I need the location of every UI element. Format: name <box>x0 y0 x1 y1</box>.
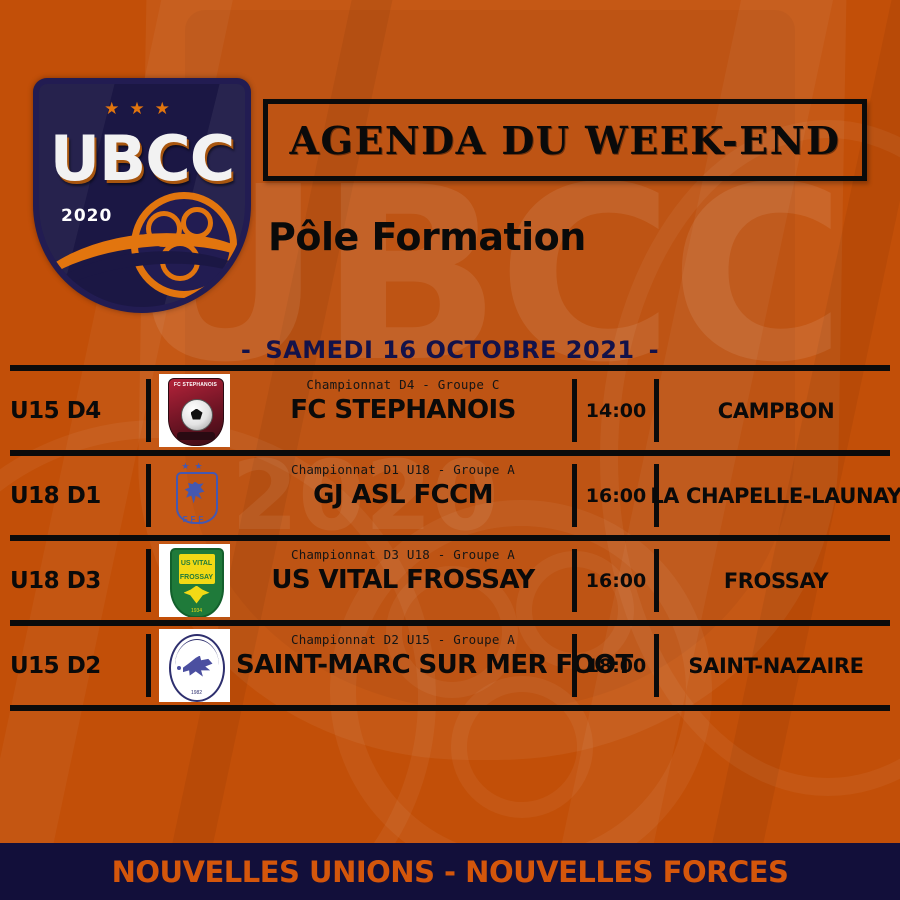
smm-year: 1982 <box>171 690 223 696</box>
row-divider-vertical <box>146 634 151 697</box>
saint-marc-sur-mer-logo: 1982 <box>159 629 230 702</box>
row-divider-vertical <box>654 379 659 442</box>
row-divider-vertical <box>654 634 659 697</box>
row-divider-vertical <box>572 634 577 697</box>
footer-bar: NOUVELLES UNIONS - NOUVELLES FORCES <box>0 843 900 900</box>
crest-name-text: UBCC <box>39 122 245 195</box>
row-place: LA CHAPELLE-LAUNAY <box>660 456 892 535</box>
row-category: U15 D4 <box>10 371 148 450</box>
ubcc-crest-logo: ★★★ UBCC 2020 <box>33 78 251 313</box>
logo-dot <box>177 666 181 670</box>
table-row[interactable]: U18 D3 US VITAL FROSSAY 1934 Championnat… <box>0 541 900 620</box>
row-divider-vertical <box>572 464 577 527</box>
bird-icon <box>184 586 210 604</box>
row-category: U18 D3 <box>10 541 148 620</box>
logo-band: US VITAL FROSSAY <box>179 554 215 584</box>
row-match-info: Championnat D2 U15 - Groupe A SAINT-MARC… <box>236 626 570 705</box>
fixtures-table: U15 D4 FC STEPHANOIS Championnat D4 - Gr… <box>0 365 900 711</box>
row-time: 16:00 <box>578 456 654 535</box>
row-competition: Championnat D3 U18 - Groupe A <box>236 547 570 562</box>
row-divider-vertical <box>146 379 151 442</box>
logo-caption: FC STEPHANOIS <box>169 382 223 388</box>
logo-ribbon <box>177 432 215 440</box>
footer-slogan: NOUVELLES UNIONS - NOUVELLES FORCES <box>112 855 789 889</box>
poster-canvas: UBCC 2020 ★★★ UBCC 2020 AGENDA DU WEEK-E… <box>0 0 900 900</box>
row-place: SAINT-NAZAIRE <box>660 626 892 705</box>
crest-year-text: 2020 <box>61 206 112 226</box>
table-divider <box>10 705 890 711</box>
row-divider-vertical <box>572 379 577 442</box>
row-divider-vertical <box>146 549 151 612</box>
row-competition: Championnat D1 U18 - Groupe A <box>236 462 570 477</box>
table-row[interactable]: U18 D1 ★★ FFF Championnat D1 U18 - Group… <box>0 456 900 535</box>
fc-stephanois-logo: FC STEPHANOIS <box>159 374 230 447</box>
row-category: U18 D1 <box>10 456 148 535</box>
date-heading: -SAMEDI 16 OCTOBRE 2021- <box>0 336 900 364</box>
row-place: FROSSAY <box>660 541 892 620</box>
table-row[interactable]: U15 D4 FC STEPHANOIS Championnat D4 - Gr… <box>0 371 900 450</box>
row-category: U15 D2 <box>10 626 148 705</box>
row-place: CAMPBON <box>660 371 892 450</box>
row-team: GJ ASL FCCM <box>236 480 570 510</box>
date-dash-left: - <box>241 336 251 364</box>
row-team: US VITAL FROSSAY <box>236 565 570 595</box>
page-title-box: AGENDA DU WEEK-END <box>263 99 867 181</box>
row-time: 14:00 <box>578 371 654 450</box>
row-competition: Championnat D4 - Groupe C <box>236 377 570 392</box>
row-competition: Championnat D2 U15 - Groupe A <box>236 632 570 647</box>
date-dash-right: - <box>649 336 659 364</box>
row-team: SAINT-MARC SUR MER FOOT <box>236 650 570 680</box>
fff-logo: ★★ FFF <box>159 459 230 532</box>
table-row[interactable]: U15 D2 1982 Championnat D2 U15 - Groupe … <box>0 626 900 705</box>
page-title: AGENDA DU WEEK-END <box>290 118 841 163</box>
row-divider-vertical <box>146 464 151 527</box>
row-match-info: Championnat D3 U18 - Groupe A US VITAL F… <box>236 541 570 620</box>
uvf-line2: FROSSAY <box>179 568 215 582</box>
page-subtitle: Pôle Formation <box>268 215 586 259</box>
row-team: FC STEPHANOIS <box>236 395 570 425</box>
row-divider-vertical <box>654 549 659 612</box>
row-match-info: Championnat D4 - Groupe C FC STEPHANOIS <box>236 371 570 450</box>
crest-shield-shape: ★★★ UBCC 2020 <box>33 78 251 313</box>
us-vital-frossay-logo: US VITAL FROSSAY 1934 <box>159 544 230 617</box>
row-match-info: Championnat D1 U18 - Groupe A GJ ASL FCC… <box>236 456 570 535</box>
soccer-ball-icon <box>181 399 213 431</box>
uvf-line1: US VITAL <box>179 554 215 568</box>
row-time: 16:00 <box>578 541 654 620</box>
row-divider-vertical <box>572 549 577 612</box>
crest-stars-icon: ★★★ <box>39 100 245 117</box>
fff-label: FFF <box>167 515 223 524</box>
row-time: 18:00 <box>578 626 654 705</box>
date-label: SAMEDI 16 OCTOBRE 2021 <box>251 336 648 364</box>
fff-stars-icon: ★★ <box>167 462 223 471</box>
uvf-year: 1934 <box>172 608 222 614</box>
